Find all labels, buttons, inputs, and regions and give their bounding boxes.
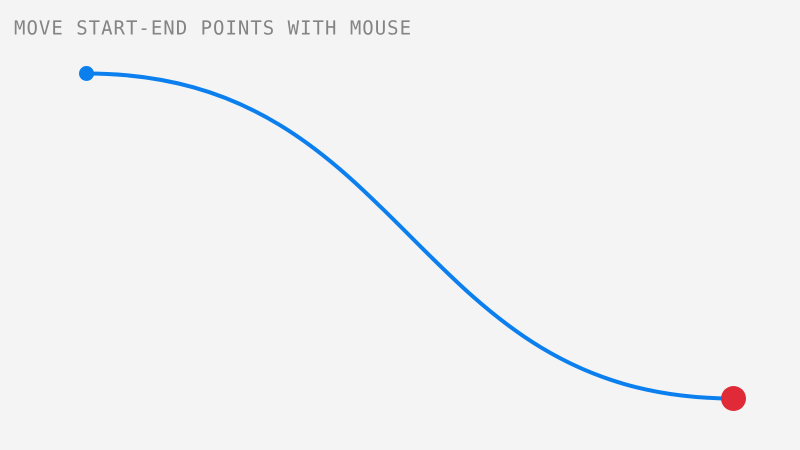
bezier-canvas bbox=[0, 0, 800, 450]
start-point-handle[interactable] bbox=[79, 66, 94, 81]
end-point-handle[interactable] bbox=[721, 386, 746, 411]
canvas-stage: MOVE START-END POINTS WITH MOUSE bbox=[0, 0, 800, 450]
bezier-curve bbox=[87, 74, 734, 399]
